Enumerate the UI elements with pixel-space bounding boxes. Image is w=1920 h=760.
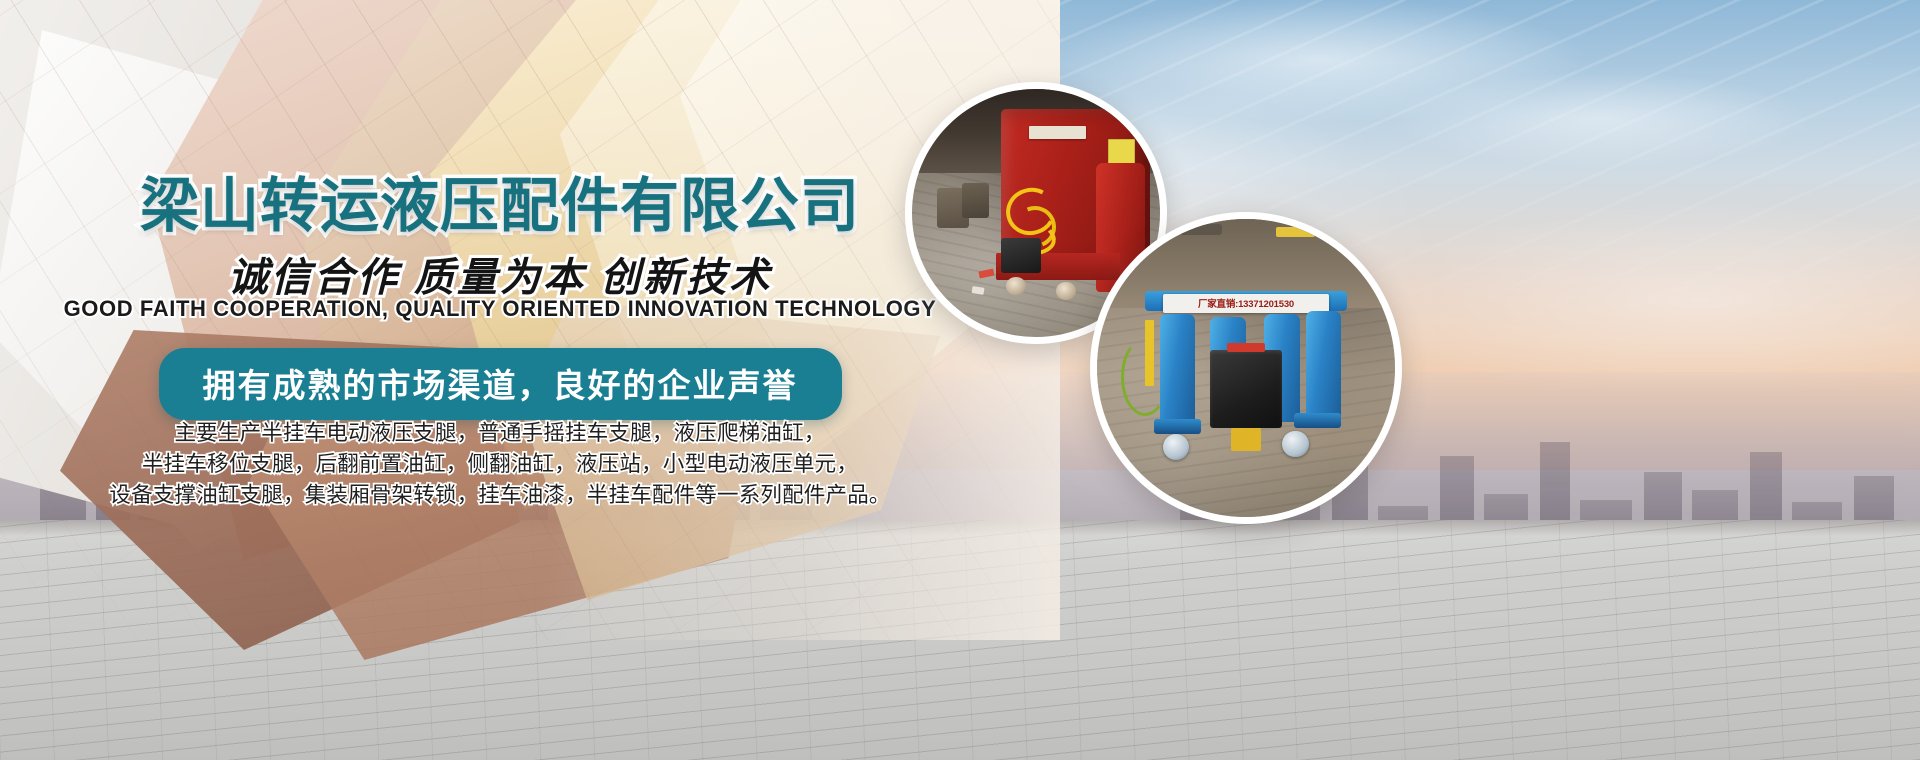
company-title: 梁山转运液压配件有限公司 — [0, 158, 1000, 243]
slogan-chinese: 诚信合作 质量为本 创新技术 — [0, 245, 1000, 303]
blue-machine-wheel-2 — [1282, 431, 1309, 458]
blue-scene-bg-object-4 — [1323, 225, 1359, 236]
description-line: 设备支撑油缸支腿，集装厢骨架转锁，挂车油漆，半挂车配件等一系列配件产品。 — [0, 480, 1000, 511]
blue-machine-leg-1 — [1160, 314, 1196, 421]
blue-machine-foot-1 — [1154, 419, 1202, 434]
description-block: 主要生产半挂车电动液压支腿，普通手摇挂车支腿，液压爬梯油缸， 半挂车移位支腿，后… — [0, 418, 1000, 511]
red-machine-motor — [1001, 238, 1041, 273]
red-scene-barrel-2 — [962, 183, 989, 218]
blue-scene-bg-object-1 — [1121, 226, 1169, 239]
description-line: 主要生产半挂车电动液压支腿，普通手摇挂车支腿，液压爬梯油缸， — [0, 418, 1000, 449]
phone-number-text: 厂家直销:13371201530 — [1198, 296, 1294, 310]
product-photo-blue-machine: 厂家直销:13371201530 — [1090, 212, 1402, 524]
highlight-pill-wrapper: 拥有成熟的市场渠道，良好的企业声誉 — [0, 348, 1000, 420]
red-machine-label — [1029, 126, 1086, 138]
blue-scene-bg-object-3 — [1276, 227, 1315, 237]
blue-scene-bg-object-2 — [1180, 224, 1222, 235]
hero-banner: 梁山转运液压配件有限公司 诚信合作 质量为本 创新技术 GOOD FAITH C… — [0, 0, 1920, 760]
description-line: 半挂车移位支腿，后翻前置油缸，侧翻油缸，液压站，小型电动液压单元， — [0, 449, 1000, 480]
red-machine-wheel-2 — [1056, 282, 1076, 299]
blue-machine-control-box — [1210, 350, 1282, 427]
highlight-pill: 拥有成熟的市场渠道，良好的企业声誉 — [159, 348, 842, 420]
hero-text-block: 梁山转运液压配件有限公司 诚信合作 质量为本 创新技术 GOOD FAITH C… — [0, 0, 1000, 560]
blue-machine-control-panel — [1231, 428, 1261, 452]
blue-machine-leg-4 — [1306, 311, 1342, 418]
blue-scene-yellow-strip — [1145, 320, 1154, 386]
red-machine-wheel-1 — [1006, 277, 1026, 294]
slogan-english: GOOD FAITH COOPERATION, QUALITY ORIENTED… — [0, 296, 1000, 322]
blue-machine-foot-2 — [1294, 413, 1342, 428]
phone-number-plate: 厂家直销:13371201530 — [1163, 294, 1330, 313]
blue-machine-scene: 厂家直销:13371201530 — [1097, 219, 1395, 517]
